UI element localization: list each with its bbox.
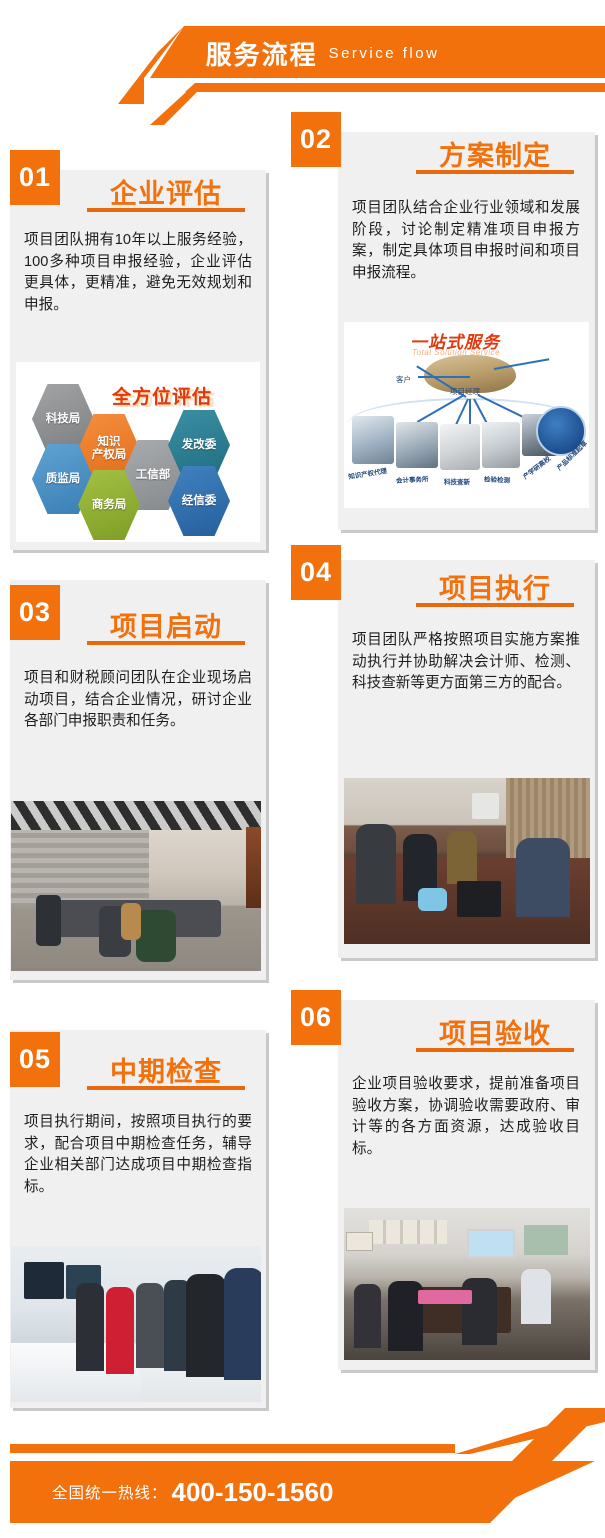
step-number-badge-01: 01 — [10, 150, 60, 205]
photo-gift-boxes — [418, 1290, 472, 1304]
photo-ceiling-pattern — [11, 801, 261, 830]
page-subtitle: Service flow — [329, 45, 440, 62]
service-node-label-3: 科技查新 — [444, 476, 470, 486]
photo-certificate-frames — [369, 1220, 448, 1244]
photo-person — [224, 1268, 262, 1380]
team-working-meeting-photo — [344, 778, 590, 944]
step-title-02: 方案制定 — [405, 134, 585, 173]
service-node-thumb-2 — [396, 422, 438, 468]
hex-node-label: 发改委 — [182, 439, 217, 452]
photo-brick-wall — [11, 830, 149, 908]
photo-person — [186, 1274, 226, 1377]
header-title-group: 服务流程 Service flow — [0, 30, 605, 76]
hex-node-label: 科技局 — [46, 413, 81, 426]
page-footer: 全国统一热线： 400-150-1560 — [0, 1408, 605, 1538]
photo-person — [121, 903, 141, 940]
step-title-04: 项目执行 — [405, 567, 585, 606]
hex-node-label: 工信部 — [136, 469, 171, 482]
photo-projector-screen — [467, 1229, 515, 1257]
photo-whiteboard — [524, 1225, 568, 1255]
step-title-rule-06 — [416, 1048, 574, 1052]
step-title-rule-01 — [87, 208, 245, 212]
photo-chair — [36, 895, 61, 946]
one-stop-service-diagram: 一站式服务 Total Solution Service 客户 项目经理 知识产… — [344, 322, 589, 508]
page-title: 服务流程 — [206, 35, 318, 72]
acceptance-meeting-photo — [344, 1208, 590, 1360]
photo-person — [462, 1278, 496, 1345]
step-title-rule-03 — [87, 641, 245, 645]
header-thin-band — [185, 83, 605, 92]
step-title-rule-05 — [87, 1086, 245, 1090]
service-flow-infographic: 服务流程 Service flow 01 企业评估 项目团队拥有10年以上服务经… — [0, 0, 605, 1538]
hex-node-label: 商务局 — [92, 499, 127, 512]
step-number-badge-04: 04 — [291, 545, 341, 600]
photo-ac-unit — [472, 793, 499, 820]
step-number-badge-02: 02 — [291, 112, 341, 167]
conference-room-kickoff-photo — [11, 801, 261, 971]
photo-person — [447, 831, 477, 884]
hex-node-label: 质监局 — [46, 473, 81, 486]
photo-person — [516, 838, 570, 918]
step-number-badge-05: 05 — [10, 1032, 60, 1087]
step-body-05: 项目执行期间，按照项目执行的要求，配合项目中期检查任务，辅导企业相关部门达成项目… — [24, 1112, 252, 1198]
service-center-label: 项目经理 — [450, 386, 480, 397]
step-title-rule-04 — [416, 603, 574, 607]
page-header: 服务流程 Service flow — [0, 0, 605, 120]
service-node-thumb-3 — [440, 424, 480, 470]
photo-person — [136, 1283, 164, 1367]
service-node-label-2: 会计事务所 — [396, 473, 429, 485]
photo-person — [356, 824, 395, 904]
step-body-02: 项目团队结合企业行业领域和发展阶段，讨论制定精准项目申报方案，制定具体项目申报时… — [352, 198, 580, 284]
photo-person — [136, 910, 176, 963]
photo-bag — [418, 888, 448, 911]
step-body-04: 项目团队严格按照项目实施方案推动执行并协助解决会计师、检测、科技查新等更方面第三… — [352, 630, 580, 695]
step-body-01: 项目团队拥有10年以上服务经验，100多种项目申报经验，企业评估更具体，更精准，… — [24, 230, 252, 316]
step-title-03: 项目启动 — [76, 605, 256, 644]
step-body-03: 项目和财税顾问团队在企业现场启动项目，结合企业情况，研讨企业各部门申报职责和任务… — [24, 668, 252, 733]
hex-node-label: 知识 产权局 — [92, 436, 127, 462]
photo-person — [354, 1284, 381, 1348]
photo-person — [76, 1283, 104, 1370]
step-title-01: 企业评估 — [76, 172, 256, 211]
step-title-06: 项目验收 — [405, 1012, 585, 1051]
service-client-label: 客户 — [396, 374, 411, 385]
step-body-06: 企业项目验收要求，提前准备项目验收方案，协调验收需要政府、审计等的各方面资源，达… — [352, 1074, 580, 1160]
showroom-site-visit-photo — [11, 1246, 261, 1402]
photo-laptop — [457, 881, 501, 918]
photo-person-red-coat — [106, 1287, 134, 1374]
comprehensive-assessment-hexagon-chart: 全方位评估 全方位评估 科技局 知识 产权局 质监局 工信部 商务局 发改委 经… — [16, 362, 260, 542]
hotline-group: 全国统一热线： 400-150-1560 — [52, 1461, 333, 1523]
photo-person — [521, 1269, 551, 1324]
footer-thin-band — [10, 1444, 455, 1453]
hex-chart-title: 全方位评估 — [112, 382, 212, 409]
service-node-thumb-4 — [482, 422, 520, 468]
photo-certificate-frame — [346, 1232, 373, 1251]
step-title-05: 中期检查 — [76, 1050, 256, 1089]
photo-wood-panel — [246, 827, 261, 909]
service-node-thumb-1 — [352, 416, 394, 464]
photo-display-screen — [24, 1262, 64, 1299]
service-node-label-4: 检验检测 — [484, 473, 510, 484]
step-number-badge-03: 03 — [10, 585, 60, 640]
step-number-badge-06: 06 — [291, 990, 341, 1045]
hotline-label: 全国统一热线： — [52, 1481, 168, 1503]
step-title-rule-02 — [416, 170, 574, 174]
hotline-number[interactable]: 400-150-1560 — [172, 1477, 334, 1508]
service-arrow — [418, 376, 470, 378]
hex-node-label: 经信委 — [182, 495, 217, 508]
